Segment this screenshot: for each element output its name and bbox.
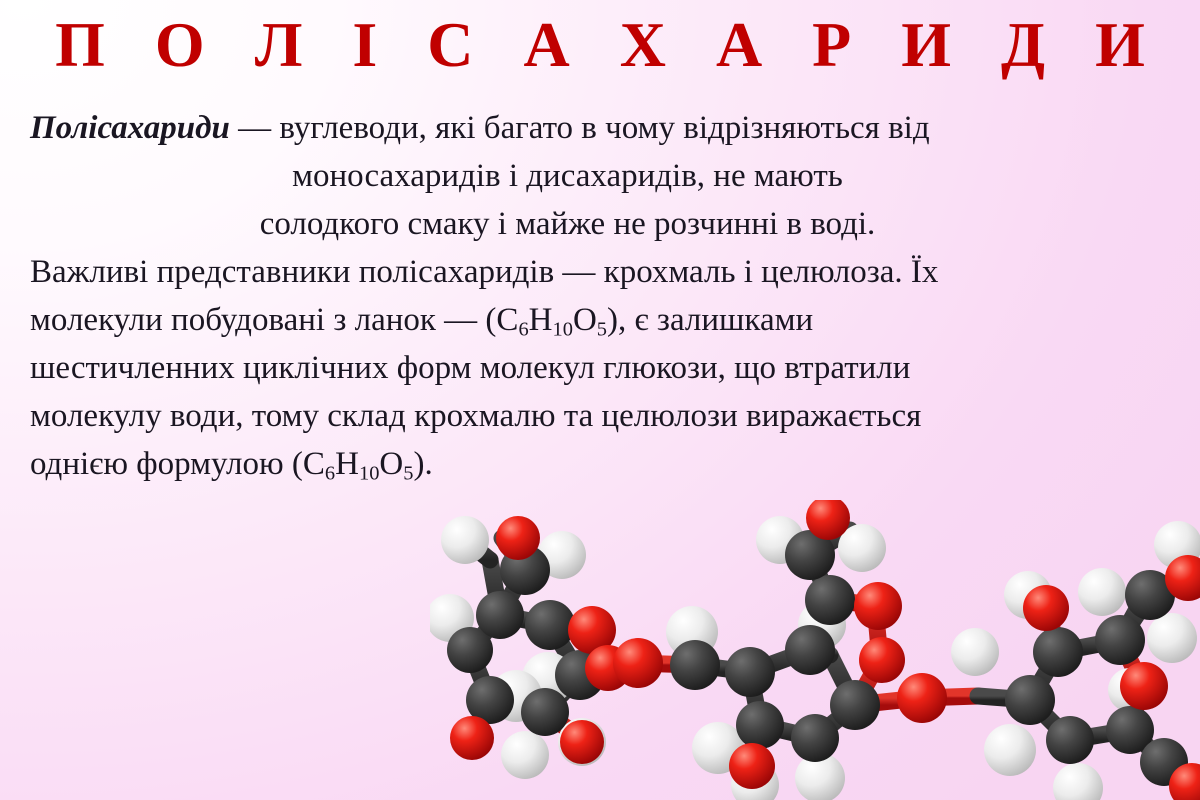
formula-subscript-c6: 6 bbox=[518, 319, 528, 341]
formula-h-1: H bbox=[529, 302, 553, 338]
atom-hydrogen bbox=[1147, 613, 1197, 663]
paragraph1-line-1-rest: — вуглеводи, які багато в чому відрізняю… bbox=[230, 110, 930, 146]
formula2-subscript-h10: 10 bbox=[359, 463, 379, 485]
atom-carbon bbox=[1005, 675, 1055, 725]
atom-carbon bbox=[830, 680, 880, 730]
atom-carbon bbox=[805, 575, 855, 625]
formula2-subscript-c6: 6 bbox=[325, 463, 335, 485]
paragraph1-line-3: солодкого смаку і майже не розчинні в во… bbox=[30, 200, 1105, 248]
formula2-o: O bbox=[379, 446, 403, 482]
formula2-subscript-o5: 5 bbox=[403, 463, 413, 485]
formula-suffix-2: ). bbox=[413, 446, 432, 482]
atom-carbon bbox=[476, 591, 524, 639]
atom-carbon bbox=[785, 625, 835, 675]
formula-prefix-1: молекули побудовані з ланок — (C bbox=[30, 302, 518, 338]
formula-subscript-h10: 10 bbox=[553, 319, 573, 341]
atom-oxygen-glycosidic bbox=[613, 638, 663, 688]
atom-carbon bbox=[725, 647, 775, 697]
slide-root: П О Л І С А Х А Р И Д И Полісахариди — в… bbox=[0, 0, 1200, 800]
atom-carbon bbox=[525, 600, 575, 650]
paragraph1-line-1: Полісахариди — вуглеводи, які багато в ч… bbox=[30, 104, 1170, 152]
body-text-block: Полісахариди — вуглеводи, які багато в ч… bbox=[30, 104, 1170, 488]
atom-carbon bbox=[521, 688, 569, 736]
atom-carbon bbox=[736, 701, 784, 749]
atom-carbon bbox=[1046, 716, 1094, 764]
formula2-h: H bbox=[335, 446, 359, 482]
atom-oxygen bbox=[1023, 585, 1069, 631]
atom-hydrogen bbox=[984, 724, 1036, 776]
term-polysaccharides: Полісахариди bbox=[30, 110, 230, 146]
paragraph2-line-5: однією формулою (C6H10O5). bbox=[30, 440, 1170, 488]
atom-hydrogen bbox=[951, 628, 999, 676]
atom-oxygen bbox=[496, 516, 540, 560]
molecule-figure bbox=[430, 500, 1200, 800]
atom-hydrogen bbox=[441, 516, 489, 564]
atom-carbon bbox=[1095, 615, 1145, 665]
atom-oxygen bbox=[859, 637, 905, 683]
paragraph2-line-1: Важливі представники полісахаридів — кро… bbox=[30, 248, 1170, 296]
atom-oxygen-ring bbox=[1120, 662, 1168, 710]
formula-suffix-1: ), є залишками bbox=[607, 302, 813, 338]
atom-oxygen-ring bbox=[854, 582, 902, 630]
page-title: П О Л І С А Х А Р И Д И bbox=[0, 8, 1200, 82]
formula-o-1: O bbox=[573, 302, 597, 338]
atom-hydrogen bbox=[501, 731, 549, 779]
paragraph2-line-2: молекули побудовані з ланок — (C6H10O5),… bbox=[30, 296, 1170, 344]
atom-carbon bbox=[670, 640, 720, 690]
atom-carbon bbox=[791, 714, 839, 762]
atom-oxygen bbox=[450, 716, 494, 760]
paragraph1-line-2: моносахаридів і дисахаридів, не мають bbox=[30, 152, 1105, 200]
atom-hydrogen bbox=[1053, 763, 1103, 800]
paragraph2-line-3: шестичленних циклічних форм молекул глюк… bbox=[30, 344, 1170, 392]
paragraph2-line-4: молекулу води, тому склад крохмалю та це… bbox=[30, 392, 1170, 440]
atom-oxygen bbox=[729, 743, 775, 789]
atom-hydrogen bbox=[1078, 568, 1126, 616]
atom-oxygen-glycosidic bbox=[897, 673, 947, 723]
molecule-model-image bbox=[430, 500, 1200, 800]
atom-oxygen bbox=[560, 720, 604, 764]
formula-prefix-2: однією формулою (C bbox=[30, 446, 325, 482]
atom-carbon bbox=[1033, 627, 1083, 677]
formula-subscript-o5: 5 bbox=[597, 319, 607, 341]
